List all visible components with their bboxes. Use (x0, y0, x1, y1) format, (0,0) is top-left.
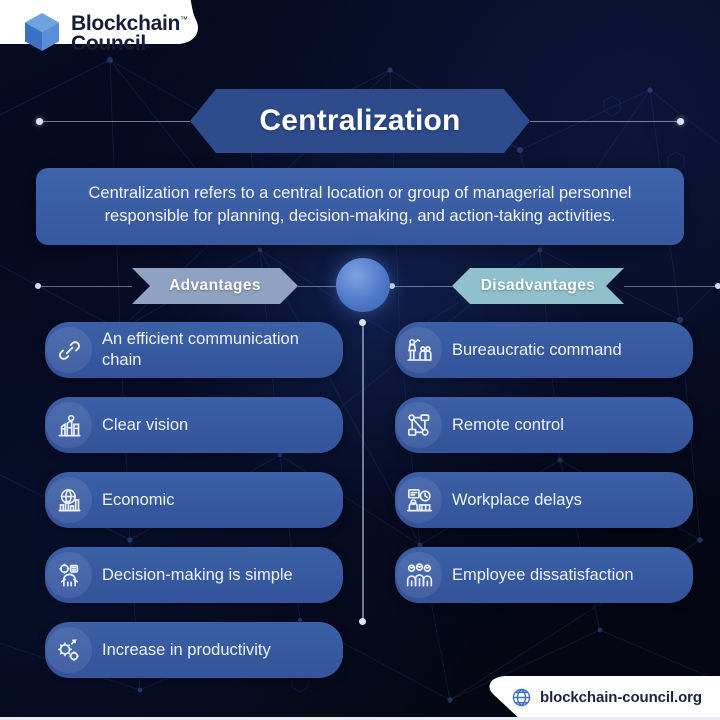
advantages-heading-text: Advantages (169, 277, 261, 295)
infographic-poster: Blockchain™ Council Centralization Centr… (0, 0, 720, 720)
description-text: Centralization refers to a central locat… (52, 182, 668, 229)
list-item-label: Decision-making is simple (102, 565, 293, 586)
list-item[interactable]: Clear vision (45, 397, 343, 453)
list-item[interactable]: Economic (45, 472, 343, 528)
brand-name: Blockchain™ Council (71, 10, 188, 54)
list-item[interactable]: An efficient communication chain (45, 322, 343, 378)
brand-name-line2: Council (71, 32, 146, 55)
disadvantages-heading-text: Disadvantages (481, 277, 596, 295)
head-gears-icon (46, 552, 92, 598)
podium-speaker-icon (396, 327, 442, 373)
disadvantages-rule-left (390, 286, 452, 287)
list-item[interactable]: Employee dissatisfaction (395, 547, 693, 603)
list-item[interactable]: Remote control (395, 397, 693, 453)
disadvantages-heading: Disadvantages (452, 268, 624, 304)
footer-website[interactable]: blockchain-council.org (511, 687, 702, 708)
list-item-label: An efficient communication chain (102, 329, 329, 370)
advantages-rule-left (36, 286, 132, 287)
brand-logo: Blockchain™ Council (22, 10, 188, 54)
list-item-label: Economic (102, 490, 174, 511)
center-hub-node (336, 258, 390, 312)
office-clock-icon (396, 477, 442, 523)
disadvantages-header-group: Disadvantages (390, 268, 720, 304)
list-item-label: Remote control (452, 415, 564, 436)
vision-telescope-icon (46, 402, 92, 448)
description-card: Centralization refers to a central locat… (36, 168, 684, 245)
unhappy-people-icon (396, 552, 442, 598)
list-item[interactable]: Bureaucratic command (395, 322, 693, 378)
list-item-label: Clear vision (102, 415, 188, 436)
list-item[interactable]: Workplace delays (395, 472, 693, 528)
list-item[interactable]: Increase in productivity (45, 622, 343, 678)
chain-link-icon (46, 327, 92, 373)
list-item-label: Bureaucratic command (452, 340, 622, 361)
network-nodes-icon (396, 402, 442, 448)
title-row: Centralization (0, 88, 720, 154)
gear-growth-icon (46, 627, 92, 673)
globe-icon (511, 687, 532, 708)
advantages-heading: Advantages (132, 268, 298, 304)
list-item-label: Workplace delays (452, 490, 582, 511)
column-divider-line (362, 322, 364, 622)
advantages-list: An efficient communication chain Clear v… (45, 322, 343, 678)
page-title-text: Centralization (259, 104, 460, 138)
title-rule-right (530, 121, 682, 122)
disadvantages-list: Bureaucratic command Remote control (395, 322, 693, 603)
disadvantages-rule-right (624, 286, 720, 287)
trademark-mark: ™ (180, 15, 188, 24)
footer-url-text: blockchain-council.org (540, 689, 702, 706)
list-item[interactable]: Decision-making is simple (45, 547, 343, 603)
cube-icon (22, 11, 62, 53)
page-title: Centralization (190, 89, 530, 153)
advantages-header-group: Advantages (36, 268, 366, 304)
title-rule-left (38, 121, 190, 122)
list-item-label: Employee dissatisfaction (452, 565, 634, 586)
list-item-label: Increase in productivity (102, 640, 271, 661)
globe-chart-icon (46, 477, 92, 523)
